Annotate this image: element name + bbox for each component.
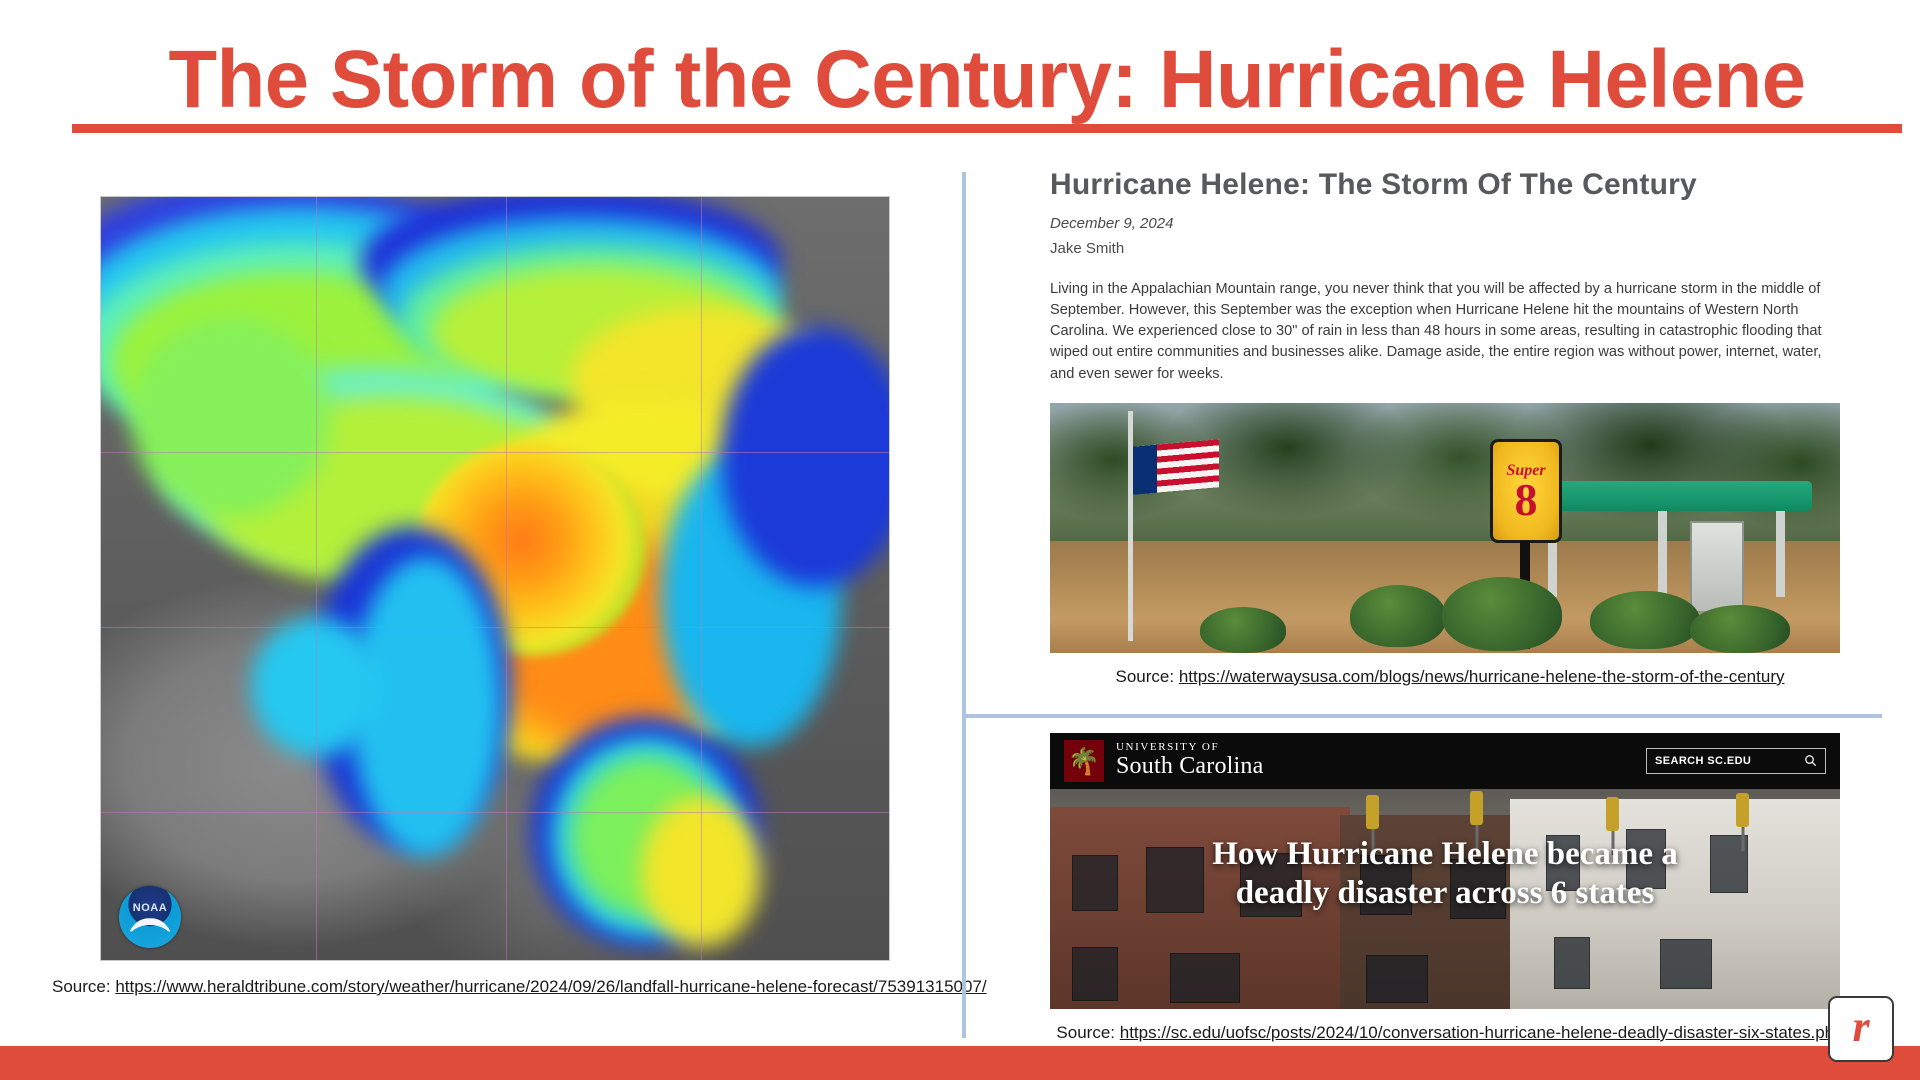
traffic-light-icon (1606, 797, 1619, 831)
noaa-logo-label: NOAA (133, 902, 167, 914)
source-link[interactable]: https://sc.edu/uofsc/posts/2024/10/conve… (1120, 1023, 1844, 1042)
page-title: The Storm of the Century: Hurricane Hele… (99, 38, 1874, 122)
left-column: NOAA Source: https://www.heraldtribune.c… (38, 196, 938, 997)
source-link[interactable]: https://waterwaysusa.com/blogs/news/hurr… (1179, 667, 1785, 686)
super-8-sign: Super 8 (1490, 439, 1562, 543)
traffic-light-icon (1736, 793, 1749, 827)
usc-headline-line-2: deadly disaster across 6 states (1070, 874, 1820, 913)
us-flag-icon (1133, 439, 1219, 495)
footer-bar (0, 1046, 1920, 1080)
satellite-source-caption: Source: https://www.heraldtribune.com/st… (38, 977, 938, 997)
usc-hero-photo: How Hurricane Helene became a deadly dis… (1050, 789, 1840, 1009)
article-date: December 9, 2024 (1050, 215, 1850, 232)
flagpole (1128, 411, 1133, 641)
search-icon[interactable] (1804, 754, 1817, 767)
title-block: The Storm of the Century: Hurricane Hele… (72, 38, 1902, 133)
article-heading: Hurricane Helene: The Storm Of The Centu… (1050, 168, 1850, 202)
usc-wordmark: UNIVERSITY OF South Carolina (1116, 742, 1263, 779)
slide-root: The Storm of the Century: Hurricane Hele… (0, 0, 1920, 1080)
super-8-sign-number: 8 (1515, 480, 1538, 519)
brand-logo: r (1828, 996, 1894, 1062)
vertical-divider (962, 172, 966, 1038)
canopy-supports (1548, 511, 1788, 597)
fuel-kiosk (1690, 521, 1744, 613)
usc-site-header: 🌴 UNIVERSITY OF South Carolina SEARCH SC… (1050, 733, 1840, 789)
usc-wordmark-big: South Carolina (1116, 754, 1263, 779)
source-link[interactable]: https://www.heraldtribune.com/story/weat… (115, 977, 986, 996)
source-prefix: Source: (52, 977, 115, 996)
source-prefix: Source: (1116, 667, 1179, 686)
usc-source-caption: Source: https://sc.edu/uofsc/posts/2024/… (1050, 1023, 1850, 1043)
right-column: Hurricane Helene: The Storm Of The Centu… (1050, 168, 1850, 1043)
traffic-light-icon (1366, 795, 1379, 829)
source-prefix: Source: (1056, 1023, 1119, 1042)
article-body-text: Living in the Appalachian Mountain range… (1050, 279, 1840, 385)
usc-search-label: SEARCH SC.EDU (1655, 755, 1751, 767)
hurricane-satellite-image: NOAA (100, 196, 890, 961)
noaa-seagull-icon (128, 918, 172, 940)
usc-article-card: 🌴 UNIVERSITY OF South Carolina SEARCH SC… (1050, 733, 1840, 1009)
brand-logo-letter: r (1852, 1005, 1869, 1049)
usc-headline-line-1: How Hurricane Helene became a (1070, 835, 1820, 874)
flood-photo-source-caption: Source: https://waterwaysusa.com/blogs/n… (1050, 667, 1850, 687)
usc-headline: How Hurricane Helene became a deadly dis… (1050, 835, 1840, 913)
usc-search-box[interactable]: SEARCH SC.EDU (1646, 748, 1826, 774)
usc-palmetto-logo[interactable]: 🌴 (1064, 740, 1104, 782)
satellite-figure: NOAA (100, 196, 890, 961)
traffic-light-icon (1470, 791, 1483, 825)
palmetto-tree-icon: 🌴 (1068, 748, 1100, 774)
noaa-logo: NOAA (119, 886, 181, 948)
flood-photo: Super 8 (1050, 403, 1840, 653)
article-author: Jake Smith (1050, 240, 1850, 257)
